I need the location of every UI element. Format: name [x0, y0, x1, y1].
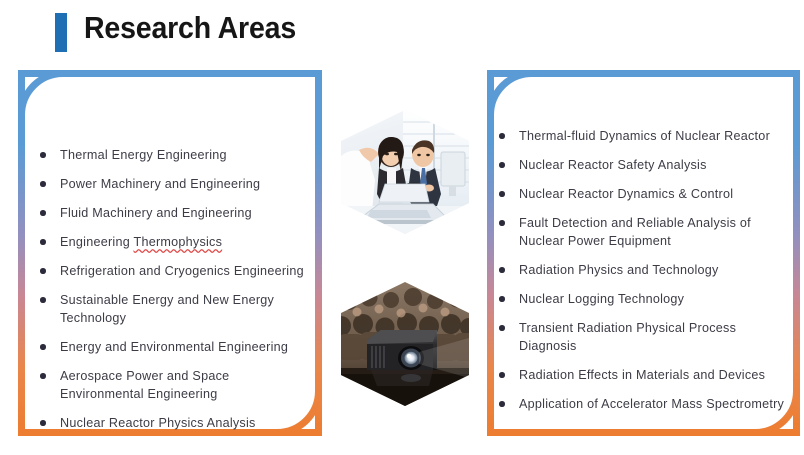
bullet-icon [499, 191, 505, 197]
page-title: Research Areas [84, 10, 296, 46]
list-item: Thermal Energy Engineering [38, 146, 310, 164]
bullet-icon [40, 181, 46, 187]
bullet-icon [499, 296, 505, 302]
list-item: Nuclear Reactor Dynamics & Control [497, 185, 787, 203]
list-item: Nuclear Reactor Safety Analysis [497, 156, 787, 174]
list-item: Fluid Machinery and Engineering [38, 204, 310, 222]
bullet-icon [40, 344, 46, 350]
list-item-label: Power Machinery and Engineering [60, 177, 260, 191]
list-item-label: Radiation Effects in Materials and Devic… [519, 368, 765, 382]
list-item: Power Machinery and Engineering [38, 175, 310, 193]
list-item: Thermal-fluid Dynamics of Nuclear Reacto… [497, 127, 787, 145]
list-item-label: Sustainable Energy and New Energy Techno… [60, 293, 274, 325]
list-item-label: Nuclear Reactor Physics Analysis [60, 416, 256, 430]
list-item: Refrigeration and Cryogenics Engineering [38, 262, 310, 280]
bullet-icon [40, 268, 46, 274]
meeting-photo [341, 110, 469, 234]
list-item: Radiation Physics and Technology [497, 261, 787, 279]
list-item-label: Transient Radiation Physical Process Dia… [519, 321, 736, 353]
bullet-icon [40, 239, 46, 245]
bullet-icon [499, 401, 505, 407]
bullet-icon [499, 325, 505, 331]
list-item-label: Fault Detection and Reliable Analysis of… [519, 216, 751, 248]
list-item-label: Thermal Energy Engineering [60, 148, 227, 162]
list-item-label: Refrigeration and Cryogenics Engineering [60, 264, 304, 278]
list-item: Energy and Environmental Engineering [38, 338, 310, 356]
list-item: Application of Accelerator Mass Spectrom… [497, 395, 787, 413]
list-item-label: Nuclear Reactor Dynamics & Control [519, 187, 733, 201]
bullet-icon [499, 372, 505, 378]
spellcheck-word: Thermophysics [134, 235, 223, 249]
title-accent-bar [55, 13, 67, 52]
bullet-icon [40, 210, 46, 216]
list-item-label: Fluid Machinery and Engineering [60, 206, 252, 220]
page-header: Research Areas [0, 0, 804, 62]
list-item: Aerospace Power and Space Environmental … [38, 367, 310, 403]
bullet-icon [499, 267, 505, 273]
bullet-icon [499, 162, 505, 168]
bullet-icon [40, 420, 46, 426]
left-topic-list: Thermal Energy Engineering Power Machine… [38, 146, 310, 443]
list-item-label: Thermal-fluid Dynamics of Nuclear Reacto… [519, 129, 770, 143]
list-item-label: Energy and Environmental Engineering [60, 340, 288, 354]
list-item-label: Radiation Physics and Technology [519, 263, 719, 277]
list-item-label: Aerospace Power and Space Environmental … [60, 369, 229, 401]
list-item: Transient Radiation Physical Process Dia… [497, 319, 787, 355]
list-item-label: Nuclear Logging Technology [519, 292, 684, 306]
list-item: Radiation Effects in Materials and Devic… [497, 366, 787, 384]
projector-photo [341, 282, 469, 406]
list-item-label: Application of Accelerator Mass Spectrom… [519, 397, 784, 411]
list-item-label: Nuclear Reactor Safety Analysis [519, 158, 707, 172]
list-item: Nuclear Reactor Physics Analysis [38, 414, 310, 432]
list-item: Fault Detection and Reliable Analysis of… [497, 214, 787, 250]
bullet-icon [40, 297, 46, 303]
bullet-icon [499, 133, 505, 139]
list-item: Engineering Thermophysics [38, 233, 310, 251]
bullet-icon [40, 152, 46, 158]
list-item: Sustainable Energy and New Energy Techno… [38, 291, 310, 327]
bullet-icon [40, 373, 46, 379]
bullet-icon [499, 220, 505, 226]
list-item: Nuclear Logging Technology [497, 290, 787, 308]
right-topic-list: Thermal-fluid Dynamics of Nuclear Reacto… [497, 127, 787, 424]
list-item-label: Engineering Thermophysics [60, 235, 222, 249]
